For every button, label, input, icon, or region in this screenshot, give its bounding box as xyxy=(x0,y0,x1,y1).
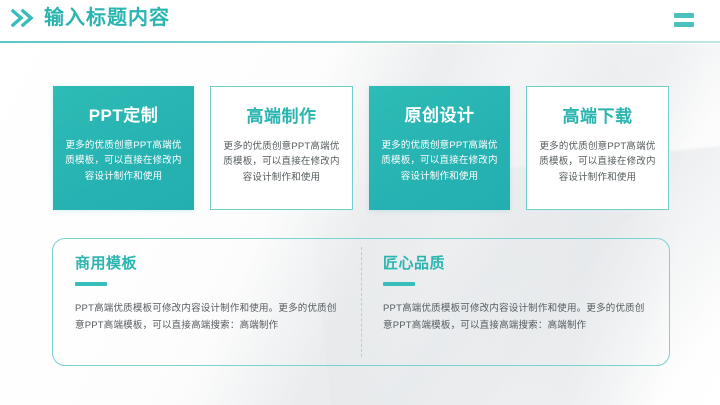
detail-panel-column-2-underline xyxy=(383,282,415,286)
detail-panel-column-1-underline xyxy=(75,282,107,286)
slide-canvas: 输入标题内容 PPT定制 更多的优质创意PPT高端优质模板，可以直接在修改内容设… xyxy=(0,0,720,405)
detail-panel-column-1[interactable]: 商用模板 PPT高端优质模板可修改内容设计制作和使用。更多的优质创意PPT高端模… xyxy=(53,239,361,365)
menu-bar-top xyxy=(674,13,694,18)
double-chevron-right-icon xyxy=(11,8,37,28)
feature-card-1-body: 更多的优质创意PPT高端优质模板，可以直接在修改内容设计制作和使用 xyxy=(65,138,182,185)
feature-card-4-body: 更多的优质创意PPT高端优质模板，可以直接在修改内容设计制作和使用 xyxy=(539,139,656,186)
detail-panel-column-1-body: PPT高端优质模板可修改内容设计制作和使用。更多的优质创意PPT高端模板，可以直… xyxy=(75,300,339,335)
menu-bars-icon[interactable] xyxy=(674,13,694,27)
header-divider-rule xyxy=(0,41,720,43)
detail-panel-column-1-title: 商用模板 xyxy=(75,256,339,273)
feature-card-4[interactable]: 高端下载 更多的优质创意PPT高端优质模板，可以直接在修改内容设计制作和使用 xyxy=(526,86,669,210)
slide-header: 输入标题内容 xyxy=(0,0,720,42)
page-title: 输入标题内容 xyxy=(44,8,170,28)
feature-card-row: PPT定制 更多的优质创意PPT高端优质模板，可以直接在修改内容设计制作和使用 … xyxy=(53,86,669,210)
detail-panel: 商用模板 PPT高端优质模板可修改内容设计制作和使用。更多的优质创意PPT高端模… xyxy=(52,238,670,366)
feature-card-3[interactable]: 原创设计 更多的优质创意PPT高端优质模板，可以直接在修改内容设计制作和使用 xyxy=(369,86,510,210)
header-title-group: 输入标题内容 xyxy=(11,8,170,28)
feature-card-2-title: 高端制作 xyxy=(223,108,340,127)
feature-card-1-title: PPT定制 xyxy=(65,107,182,126)
feature-card-2[interactable]: 高端制作 更多的优质创意PPT高端优质模板，可以直接在修改内容设计制作和使用 xyxy=(210,86,353,210)
feature-card-3-title: 原创设计 xyxy=(381,107,498,126)
detail-panel-column-2[interactable]: 匠心品质 PPT高端优质模板可修改内容设计制作和使用。更多的优质创意PPT高端模… xyxy=(361,239,669,365)
detail-panel-column-2-body: PPT高端优质模板可修改内容设计制作和使用。更多的优质创意PPT高端模板，可以直… xyxy=(383,300,647,335)
detail-panel-column-2-title: 匠心品质 xyxy=(383,256,647,273)
menu-bar-bottom xyxy=(674,22,694,27)
feature-card-1[interactable]: PPT定制 更多的优质创意PPT高端优质模板，可以直接在修改内容设计制作和使用 xyxy=(53,86,194,210)
feature-card-2-body: 更多的优质创意PPT高端优质模板，可以直接在修改内容设计制作和使用 xyxy=(223,139,340,186)
feature-card-3-body: 更多的优质创意PPT高端优质模板，可以直接在修改内容设计制作和使用 xyxy=(381,138,498,185)
feature-card-4-title: 高端下载 xyxy=(539,108,656,127)
